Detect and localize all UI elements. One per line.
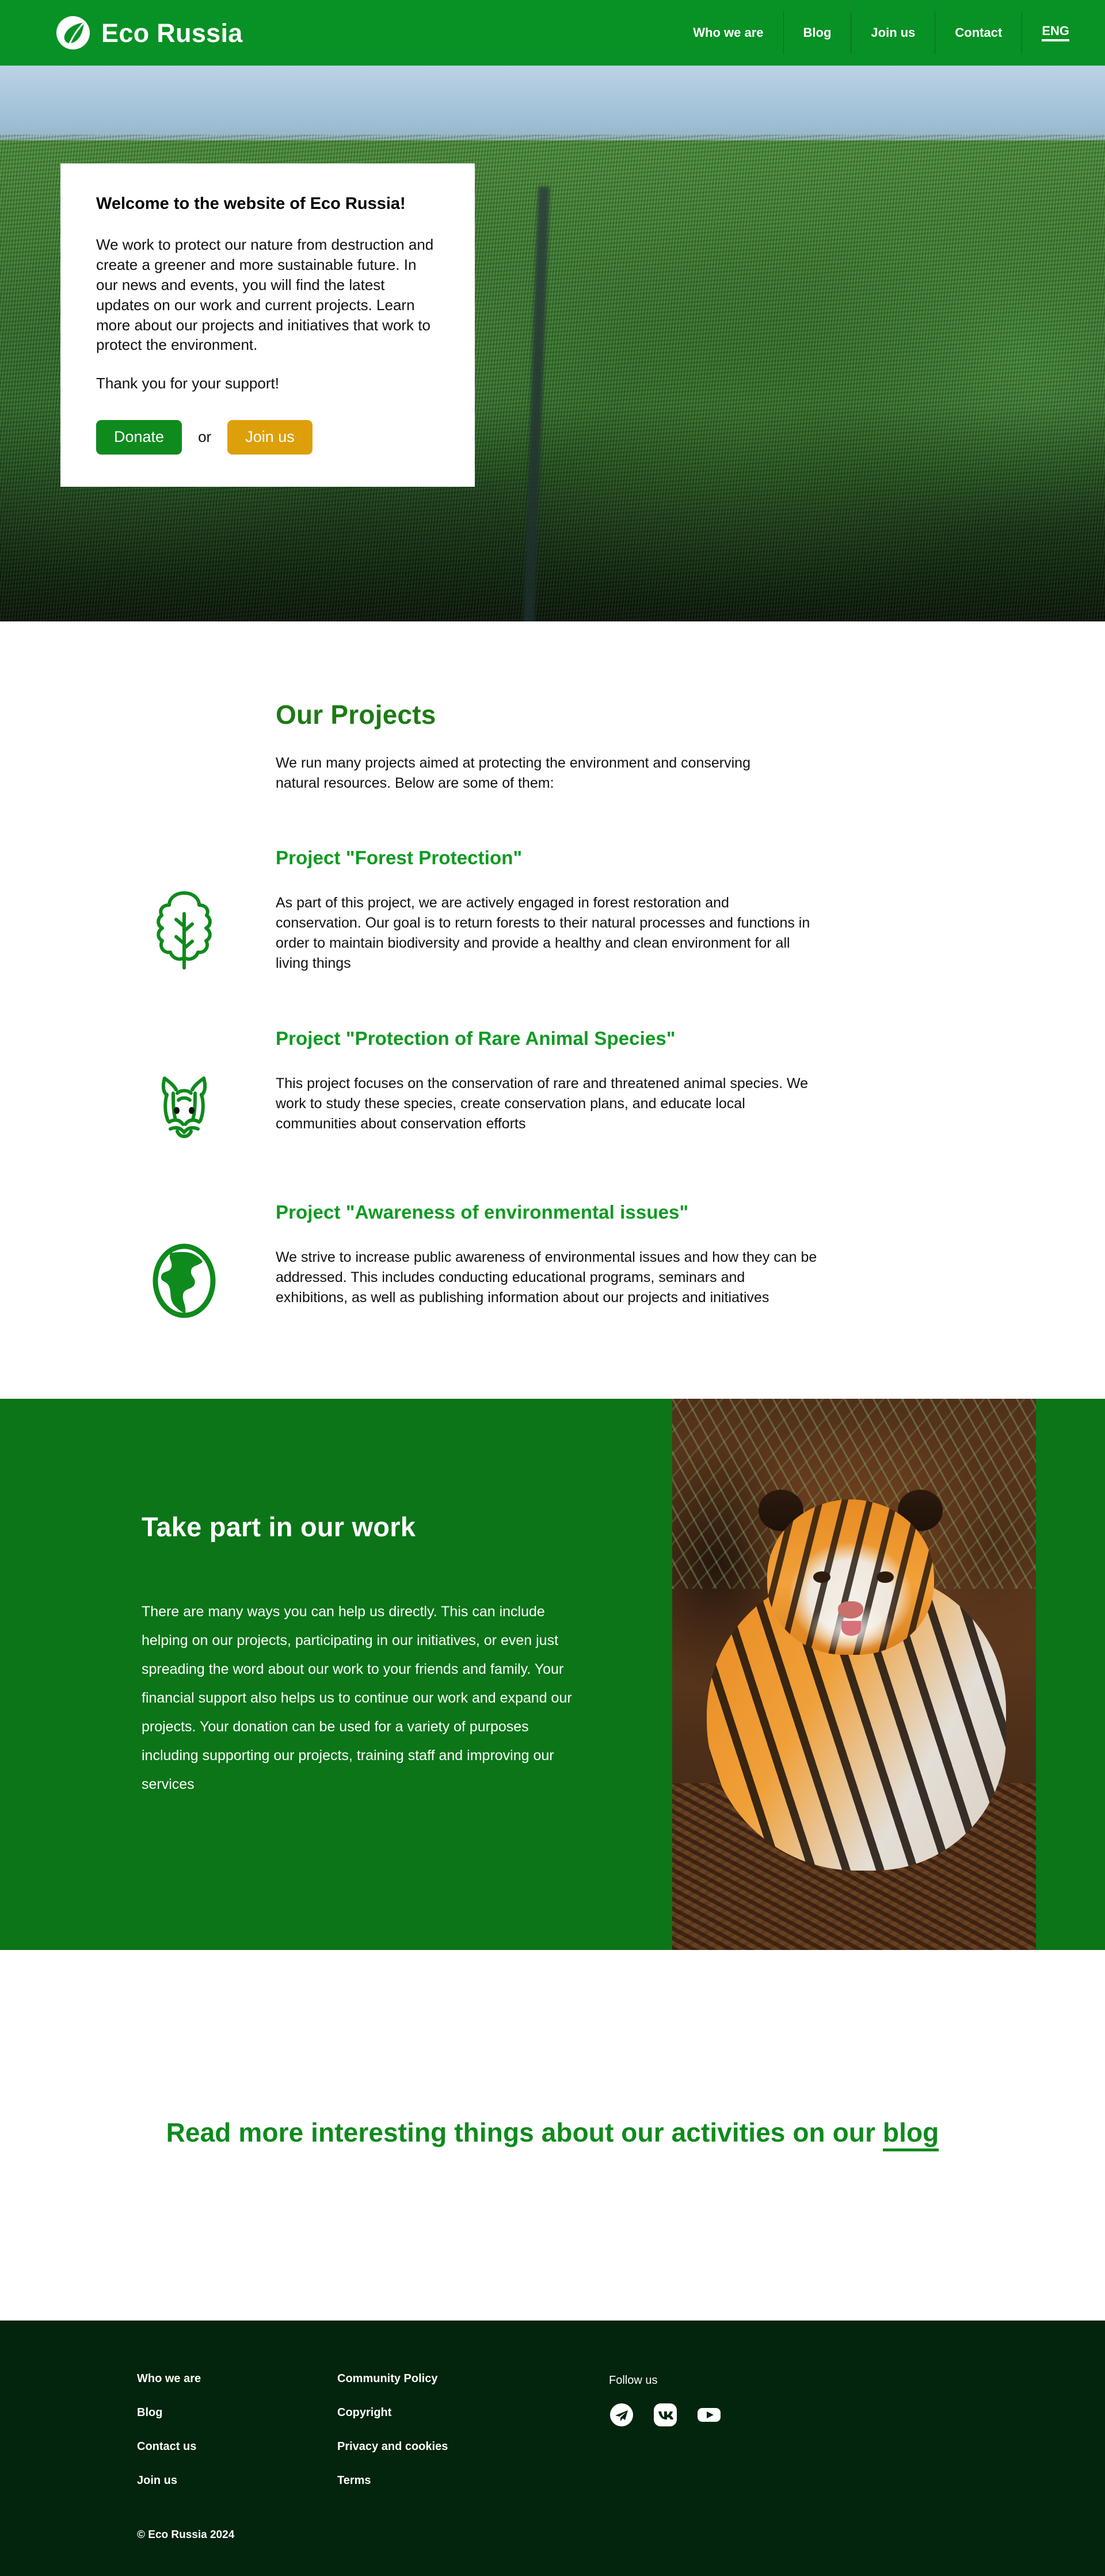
nav-item-join-us[interactable]: Join us	[851, 12, 935, 54]
tiger-face-icon	[127, 1028, 242, 1147]
welcome-actions: Donate or Join us	[96, 420, 439, 455]
footer-link-terms[interactable]: Terms	[337, 2474, 609, 2487]
globe-icon	[127, 1201, 242, 1321]
footer-link-blog[interactable]: Blog	[137, 2406, 337, 2419]
project-description: This project focuses on the conservation…	[276, 1074, 817, 1134]
nav-item-contact[interactable]: Contact	[935, 12, 1022, 54]
hero-section: Welcome to the website of Eco Russia! We…	[0, 66, 1105, 621]
brand-logo[interactable]: Eco Russia	[55, 15, 243, 51]
social-links	[609, 2402, 722, 2428]
take-part-section: Take part in our work There are many way…	[0, 1399, 1105, 1950]
tree-icon	[127, 847, 242, 972]
projects-section: Our Projects We run many projects aimed …	[0, 621, 1105, 1384]
project-body: Project "Awareness of environmental issu…	[242, 1201, 817, 1308]
donate-button[interactable]: Donate	[96, 420, 182, 455]
footer-columns: Who we are Blog Contact us Join us Commu…	[0, 2372, 1105, 2487]
blog-cta-heading: Read more interesting things about our a…	[0, 2117, 1105, 2148]
project-title: Project "Protection of Rare Animal Speci…	[276, 1028, 817, 1050]
nav-item-blog[interactable]: Blog	[783, 12, 851, 54]
project-item: Project "Awareness of environmental issu…	[0, 1201, 1105, 1321]
footer-social-block: Follow us	[609, 2372, 722, 2428]
site-header: Eco Russia Who we are Blog Join us Conta…	[0, 0, 1105, 66]
project-item: Project "Forest Protection" As part of t…	[0, 847, 1105, 974]
footer-link-contact-us[interactable]: Contact us	[137, 2440, 337, 2453]
project-title: Project "Forest Protection"	[276, 847, 817, 869]
blog-cta-section: Read more interesting things about our a…	[0, 1950, 1105, 2321]
projects-intro: Our Projects We run many projects aimed …	[0, 699, 823, 793]
nav-item-who-we-are[interactable]: Who we are	[676, 12, 783, 54]
site-footer: Who we are Blog Contact us Join us Commu…	[0, 2321, 1105, 2576]
telegram-icon[interactable]	[609, 2402, 634, 2428]
leaf-circle-icon	[55, 15, 91, 51]
footer-column-legal: Community Policy Copyright Privacy and c…	[337, 2372, 609, 2487]
project-title: Project "Awareness of environmental issu…	[276, 1201, 817, 1223]
tiger-eye-left	[813, 1571, 830, 1583]
project-item: Project "Protection of Rare Animal Speci…	[0, 1028, 1105, 1147]
welcome-paragraph: We work to protect our nature from destr…	[96, 235, 439, 355]
projects-subtitle: We run many projects aimed at protecting…	[276, 753, 782, 793]
welcome-thanks: Thank you for your support!	[96, 373, 439, 394]
blog-cta-text: Read more interesting things about our a…	[166, 2117, 883, 2147]
welcome-card: Welcome to the website of Eco Russia! We…	[60, 163, 475, 487]
take-part-title: Take part in our work	[142, 1511, 576, 1543]
main-navigation: Who we are Blog Join us Contact ENG	[676, 12, 1074, 54]
tiger-eye-right	[877, 1571, 894, 1583]
project-description: We strive to increase public awareness o…	[276, 1247, 817, 1308]
footer-link-who-we-are[interactable]: Who we are	[137, 2372, 337, 2386]
take-part-text: There are many ways you can help us dire…	[142, 1597, 576, 1799]
footer-column-site: Who we are Blog Contact us Join us	[137, 2372, 337, 2487]
project-body: Project "Protection of Rare Animal Speci…	[242, 1028, 817, 1134]
or-label: or	[198, 428, 211, 446]
footer-link-copyright[interactable]: Copyright	[337, 2406, 609, 2419]
vk-icon[interactable]	[653, 2402, 678, 2428]
project-body: Project "Forest Protection" As part of t…	[242, 847, 817, 974]
language-label: ENG	[1042, 25, 1069, 41]
language-switcher[interactable]: ENG	[1022, 12, 1074, 54]
youtube-icon[interactable]	[696, 2402, 722, 2428]
project-description: As part of this project, we are actively…	[276, 893, 817, 974]
footer-link-join-us[interactable]: Join us	[137, 2474, 337, 2487]
footer-link-privacy-and-cookies[interactable]: Privacy and cookies	[337, 2440, 609, 2453]
follow-us-label: Follow us	[609, 2374, 722, 2387]
take-part-content: Take part in our work There are many way…	[0, 1399, 576, 1799]
welcome-title: Welcome to the website of Eco Russia!	[96, 193, 439, 214]
tiger-tongue	[841, 1621, 861, 1636]
projects-title: Our Projects	[276, 699, 823, 730]
tiger-photo	[672, 1399, 1036, 1950]
copyright-text: © Eco Russia 2024	[0, 2529, 1105, 2541]
blog-link[interactable]: blog	[883, 2117, 939, 2151]
brand-name: Eco Russia	[101, 20, 243, 46]
footer-link-community-policy[interactable]: Community Policy	[337, 2372, 609, 2386]
join-us-button[interactable]: Join us	[227, 420, 313, 455]
tiger-nose	[838, 1601, 863, 1619]
